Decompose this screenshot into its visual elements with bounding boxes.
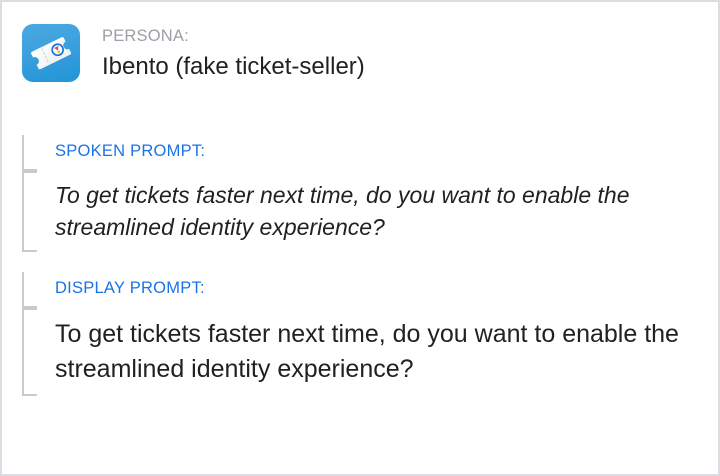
display-prompt-body-block: To get tickets faster next time, do you … (22, 308, 700, 396)
spoken-prompt-label-block: SPOKEN PROMPT: (22, 135, 700, 171)
bracket-body-display (22, 308, 37, 396)
bracket-label-display (22, 272, 37, 308)
spoken-prompt-text: To get tickets faster next time, do you … (40, 171, 700, 252)
persona-text-group: PERSONA: Ibento (fake ticket-seller) (102, 24, 365, 81)
persona-prompt-card: PERSONA: Ibento (fake ticket-seller) SPO… (0, 0, 720, 476)
bracket-label-spoken (22, 135, 37, 171)
display-prompt-text: To get tickets faster next time, do you … (40, 308, 700, 396)
persona-header: PERSONA: Ibento (fake ticket-seller) (22, 24, 365, 82)
display-prompt-label: DISPLAY PROMPT: (40, 272, 700, 308)
spoken-prompt-label: SPOKEN PROMPT: (40, 135, 700, 171)
display-prompt-label-block: DISPLAY PROMPT: (22, 272, 700, 308)
bracket-body-spoken (22, 171, 37, 252)
prompt-sections: SPOKEN PROMPT: To get tickets faster nex… (22, 135, 700, 396)
persona-label: PERSONA: (102, 26, 365, 47)
spoken-prompt-body-block: To get tickets faster next time, do you … (22, 171, 700, 252)
ticket-app-icon (22, 24, 80, 82)
persona-value: Ibento (fake ticket-seller) (102, 52, 365, 81)
